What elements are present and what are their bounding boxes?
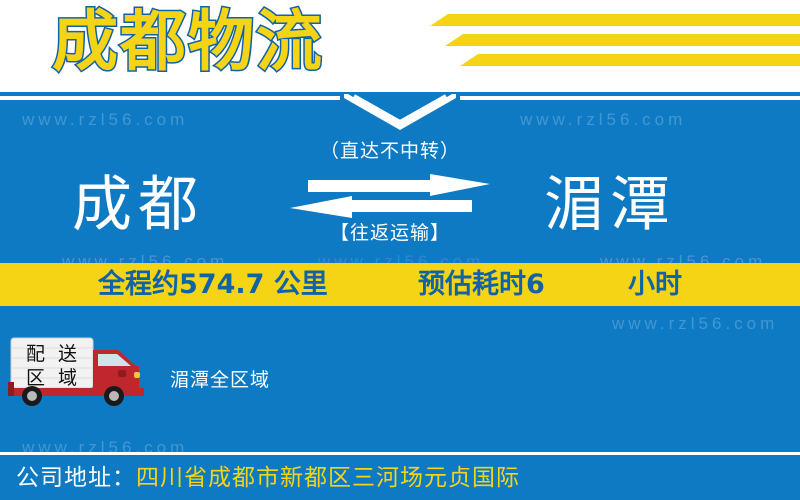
roundtrip-note: 【往返运输】 — [280, 222, 500, 244]
distance-text: 全程约574.7 公里 — [98, 263, 328, 306]
watermark: www.rzl56.com — [612, 314, 778, 334]
truck-box-char-1: 配 — [26, 343, 45, 365]
duration-text: 预估耗时6 — [418, 263, 545, 306]
truck-box-char-3: 区 — [26, 367, 45, 389]
company-address: 公司地址：四川省成都市新都区三河场元贞国际 — [16, 462, 520, 494]
stripe-3 — [460, 54, 800, 66]
page-title: 成都物流 — [52, 2, 324, 82]
coverage-area-text: 湄潭全区域 — [170, 368, 270, 392]
watermark: www.rzl56.com — [22, 110, 188, 130]
two-way-arrow-icon — [290, 174, 490, 220]
truck-box-char-4: 域 — [58, 367, 77, 389]
duration-unit-text: 小时 — [628, 263, 682, 306]
decorative-stripes — [410, 14, 800, 74]
delivery-truck-icon: 配 送 区 域 — [6, 336, 152, 406]
destination-city: 湄潭 — [544, 160, 676, 250]
watermark: www.rzl56.com — [520, 110, 686, 130]
route-row: 成都 湄潭 （直达不中转） 【往返运输】 — [0, 160, 800, 252]
stripe-1 — [430, 14, 800, 26]
metrics-band: 全程约574.7 公里 预估耗时6 小时 — [0, 263, 800, 306]
route-middle: （直达不中转） 【往返运输】 — [280, 140, 500, 260]
origin-city: 成都 — [72, 160, 204, 250]
direct-note: （直达不中转） — [280, 140, 500, 162]
logistics-banner: 成都物流 www.rzl56.com www.rzl56.com www.rzl… — [0, 0, 800, 500]
chevron-down-icon — [344, 92, 456, 132]
address-value: 四川省成都市新都区三河场元贞国际 — [136, 465, 520, 491]
address-label: 公司地址： — [16, 465, 136, 491]
stripe-2 — [445, 34, 800, 46]
truck-box-char-2: 送 — [58, 343, 77, 365]
